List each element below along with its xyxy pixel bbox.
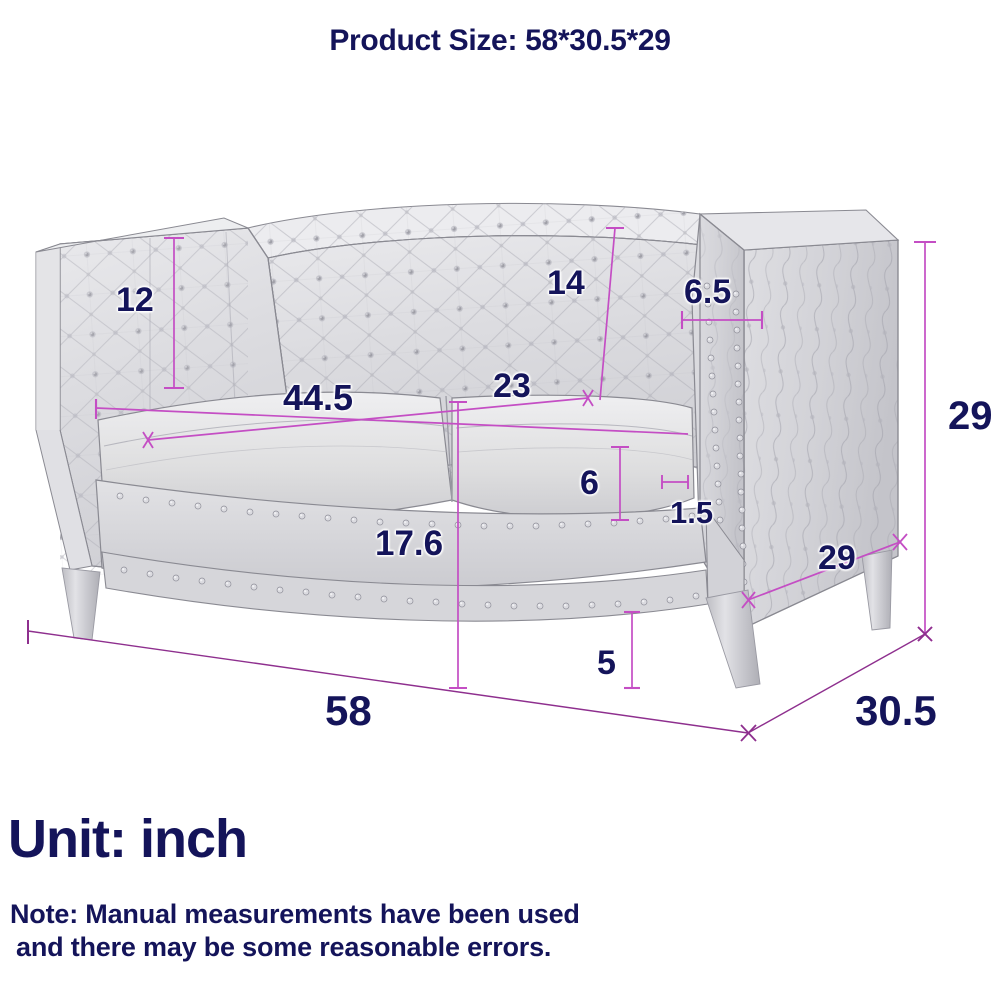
dimension-label-seat-depth: 23 (493, 369, 531, 403)
dimension-label-overall-width: 58 (325, 690, 372, 732)
measurement-note: Note: Manual measurements have been used… (10, 898, 580, 964)
dimension-label-arm-width: 6.5 (684, 275, 731, 309)
dimension-label-overall-height: 29 (948, 396, 993, 436)
dimension-label-back-cushion-height: 12 (116, 283, 154, 317)
unit-label: Unit: inch (8, 812, 247, 866)
sofa-dimension-drawing: 12 14 6.5 44.5 23 6 1.5 17.6 5 29 29 58 … (0, 0, 1000, 800)
dimension-label-cushion-thickness: 6 (580, 466, 599, 500)
sofa-illustration (36, 195, 915, 688)
dimension-line-29-height (914, 242, 936, 641)
dimension-label-cushion-edge: 1.5 (670, 497, 713, 528)
dimension-label-seat-width: 44.5 (283, 380, 353, 416)
dimension-label-seat-height: 17.6 (375, 526, 443, 561)
dimension-line-5 (624, 612, 640, 688)
dimension-line-58 (28, 620, 756, 741)
measurement-note-line-2: and there may be some reasonable errors. (10, 931, 580, 964)
dimension-label-back-height-center: 14 (547, 266, 585, 300)
dimension-label-leg-height: 5 (597, 646, 616, 680)
product-size-diagram: Product Size: 58*30.5*29 (0, 0, 1000, 1000)
dimension-label-side-depth: 29 (818, 541, 856, 575)
dimension-label-overall-depth: 30.5 (855, 690, 937, 732)
measurement-note-line-1: Note: Manual measurements have been used (10, 898, 580, 931)
